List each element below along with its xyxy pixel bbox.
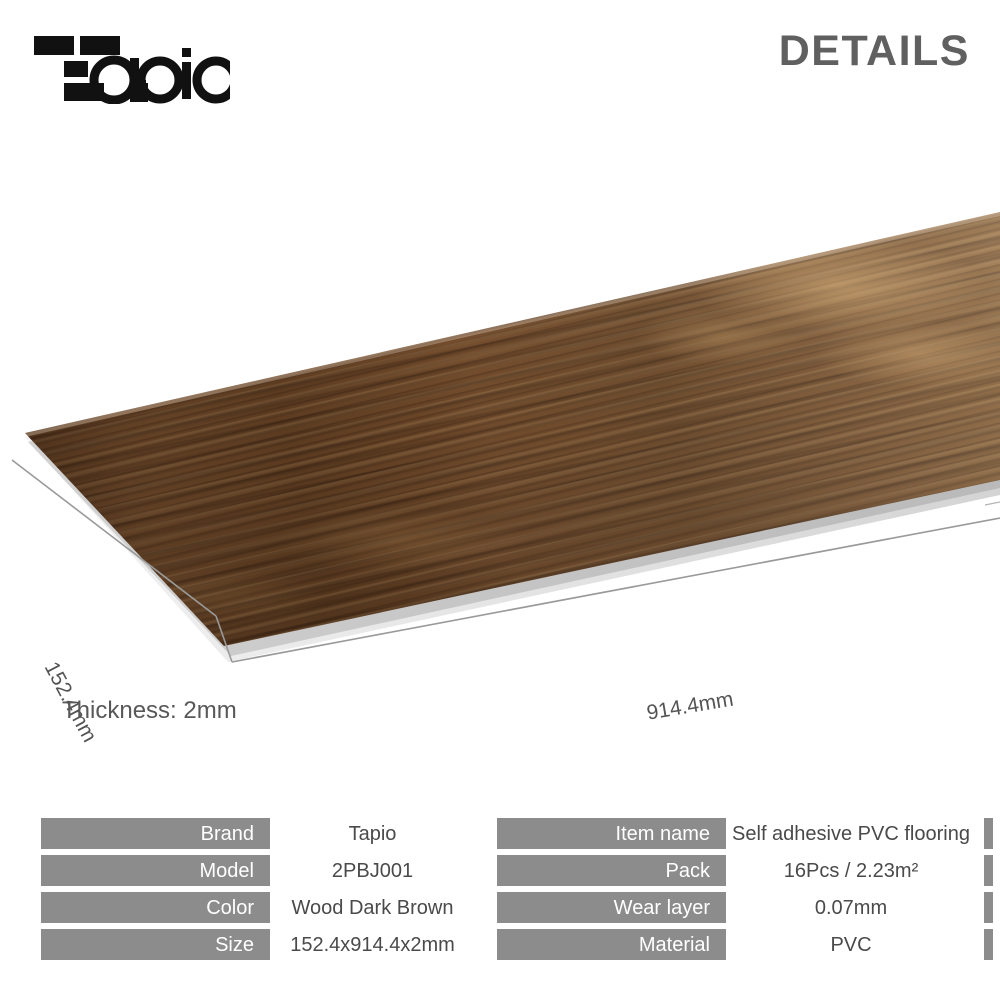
tapio-logo bbox=[30, 28, 230, 104]
product-plank-illustration: 152.4mm 914.4mm bbox=[0, 150, 1000, 770]
specification-table: Brand Tapio Item name Self adhesive PVC … bbox=[0, 818, 1000, 966]
product-detail-page: DETAILS 152.4mm 914.4mm Thickness: 2 bbox=[0, 0, 1000, 1000]
thickness-label: Thickness: 2mm bbox=[62, 697, 237, 725]
wood-perspective-shading bbox=[0, 150, 1000, 770]
table-row: Color Wood Dark Brown Wear layer 0.07mm bbox=[0, 892, 1000, 923]
spec-value: 152.4x914.4x2mm bbox=[270, 929, 475, 960]
spec-value: 0.07mm bbox=[726, 892, 976, 923]
spec-value: Tapio bbox=[270, 818, 475, 849]
table-row: Brand Tapio Item name Self adhesive PVC … bbox=[0, 818, 1000, 849]
spec-label: Color bbox=[41, 892, 270, 923]
spec-label: Brand bbox=[41, 818, 270, 849]
spec-label: Model bbox=[41, 855, 270, 886]
spec-value: Self adhesive PVC flooring bbox=[726, 818, 976, 849]
spec-label: Wear layer bbox=[497, 892, 726, 923]
table-row: Size 152.4x914.4x2mm Material PVC bbox=[0, 929, 1000, 960]
spec-value: 16Pcs / 2.23m² bbox=[726, 855, 976, 886]
row-edge-tick bbox=[984, 929, 993, 960]
spec-label: Material bbox=[497, 929, 726, 960]
row-edge-tick bbox=[984, 855, 993, 886]
table-row: Model 2PBJ001 Pack 16Pcs / 2.23m² bbox=[0, 855, 1000, 886]
spec-label: Pack bbox=[497, 855, 726, 886]
spec-value: 2PBJ001 bbox=[270, 855, 475, 886]
plank-wood-face bbox=[0, 150, 1000, 770]
row-edge-tick bbox=[984, 818, 993, 849]
row-edge-tick bbox=[984, 892, 993, 923]
spec-label: Size bbox=[41, 929, 270, 960]
spec-value: PVC bbox=[726, 929, 976, 960]
spec-value: Wood Dark Brown bbox=[270, 892, 475, 923]
spec-label: Item name bbox=[497, 818, 726, 849]
page-title: DETAILS bbox=[779, 30, 970, 73]
dimension-length-label: 914.4mm bbox=[645, 688, 735, 726]
